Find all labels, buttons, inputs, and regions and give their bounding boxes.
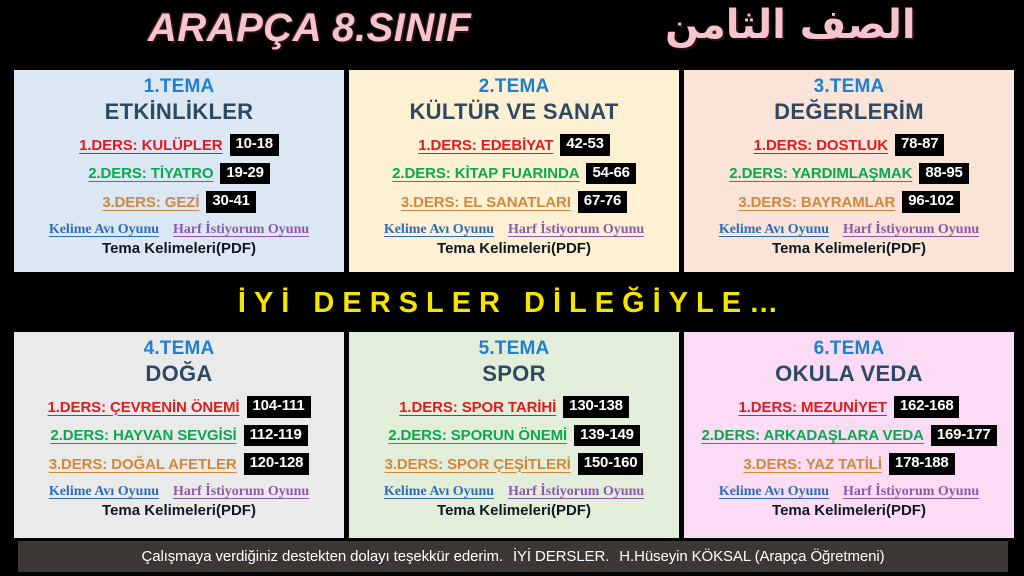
game-links: Kelime Avı Oyunu Harf İstiyorum Oyunu: [719, 484, 979, 500]
lesson-row[interactable]: 2.DERS: KİTAP FUARINDA 54-66: [392, 163, 636, 185]
lesson-row[interactable]: 1.DERS: KULÜPLER 10-18: [79, 134, 279, 156]
page-range-badge: 67-76: [578, 191, 627, 213]
lesson-row[interactable]: 3.DERS: EL SANATLARI 67-76: [401, 191, 627, 213]
page-range-badge: 42-53: [560, 134, 609, 156]
lesson-link[interactable]: 3.DERS: EL SANATLARI: [401, 194, 571, 211]
page-range-badge: 104-111: [247, 396, 311, 418]
page-range-badge: 169-177: [931, 425, 997, 447]
tema-kelimeleri-pdf-link[interactable]: Tema Kelimeleri(PDF): [437, 240, 591, 257]
theme-card-2[interactable]: 2.TEMA KÜLTÜR VE SANAT 1.DERS: EDEBİYAT …: [349, 70, 679, 272]
theme-card-1[interactable]: 1.TEMA ETKİNLİKLER 1.DERS: KULÜPLER 10-1…: [14, 70, 344, 272]
lesson-row[interactable]: 3.DERS: SPOR ÇEŞİTLERİ 150-160: [385, 453, 644, 475]
lesson-row[interactable]: 2.DERS: TİYATRO 19-29: [88, 163, 270, 185]
theme-number: 6.TEMA: [814, 338, 885, 360]
page-range-badge: 112-119: [244, 425, 308, 447]
kelime-avi-oyunu-link[interactable]: Kelime Avı Oyunu: [49, 484, 159, 500]
header: ARAPÇA 8.SINIF الصف الثامن: [0, 0, 1024, 62]
lesson-row[interactable]: 1.DERS: MEZUNİYET 162-168: [739, 396, 960, 418]
harf-istiyorum-oyunu-link[interactable]: Harf İstiyorum Oyunu: [508, 222, 644, 238]
theme-name: ETKİNLİKLER: [105, 98, 254, 126]
lesson-row[interactable]: 3.DERS: YAZ TATİLİ 178-188: [743, 453, 954, 475]
page-range-badge: 78-87: [895, 134, 944, 156]
game-links: Kelime Avı Oyunu Harf İstiyorum Oyunu: [719, 222, 979, 238]
tema-kelimeleri-pdf-link[interactable]: Tema Kelimeleri(PDF): [102, 502, 256, 519]
theme-name: KÜLTÜR VE SANAT: [409, 98, 618, 126]
lesson-row[interactable]: 2.DERS: ARKADAŞLARA VEDA 169-177: [702, 425, 997, 447]
theme-card-3[interactable]: 3.TEMA DEĞERLERİM 1.DERS: DOSTLUK 78-87 …: [684, 70, 1014, 272]
tema-kelimeleri-pdf-link[interactable]: Tema Kelimeleri(PDF): [772, 502, 926, 519]
game-links: Kelime Avı Oyunu Harf İstiyorum Oyunu: [384, 222, 644, 238]
game-links: Kelime Avı Oyunu Harf İstiyorum Oyunu: [384, 484, 644, 500]
footer-author: H.Hüseyin KÖKSAL (Arapça Öğretmeni): [619, 548, 884, 565]
lesson-link[interactable]: 3.DERS: YAZ TATİLİ: [743, 456, 882, 473]
tema-kelimeleri-pdf-link[interactable]: Tema Kelimeleri(PDF): [772, 240, 926, 257]
kelime-avi-oyunu-link[interactable]: Kelime Avı Oyunu: [719, 484, 829, 500]
lesson-row[interactable]: 3.DERS: GEZİ 30-41: [102, 191, 256, 213]
theme-number: 5.TEMA: [479, 338, 550, 360]
kelime-avi-oyunu-link[interactable]: Kelime Avı Oyunu: [384, 222, 494, 238]
theme-row-bottom: 4.TEMA DOĞA 1.DERS: ÇEVRENİN ÖNEMİ 104-1…: [14, 332, 1014, 538]
page-range-badge: 19-29: [220, 163, 269, 185]
page-range-badge: 120-128: [244, 453, 310, 475]
harf-istiyorum-oyunu-link[interactable]: Harf İstiyorum Oyunu: [843, 222, 979, 238]
footer-thanks: Çalışmaya verdiğiniz destekten dolayı te…: [142, 548, 503, 565]
page-range-badge: 130-138: [563, 396, 629, 418]
lesson-link[interactable]: 3.DERS: BAYRAMLAR: [738, 194, 895, 211]
page-range-badge: 162-168: [894, 396, 960, 418]
page-range-badge: 139-149: [574, 425, 640, 447]
lesson-row[interactable]: 3.DERS: BAYRAMLAR 96-102: [738, 191, 959, 213]
lesson-link[interactable]: 1.DERS: MEZUNİYET: [739, 399, 887, 416]
lesson-row[interactable]: 2.DERS: YARDIMLAŞMAK 88-95: [729, 163, 968, 185]
lesson-link[interactable]: 2.DERS: HAYVAN SEVGİSİ: [50, 427, 236, 444]
footer-wish: İYİ DERSLER.: [513, 548, 609, 565]
theme-row-top: 1.TEMA ETKİNLİKLER 1.DERS: KULÜPLER 10-1…: [14, 70, 1014, 272]
page-range-badge: 96-102: [902, 191, 960, 213]
lesson-link[interactable]: 2.DERS: SPORUN ÖNEMİ: [388, 427, 567, 444]
lesson-link[interactable]: 2.DERS: YARDIMLAŞMAK: [729, 165, 912, 182]
kelime-avi-oyunu-link[interactable]: Kelime Avı Oyunu: [49, 222, 159, 238]
lesson-row[interactable]: 1.DERS: EDEBİYAT 42-53: [418, 134, 609, 156]
lesson-list: 1.DERS: DOSTLUK 78-87 2.DERS: YARDIMLAŞM…: [688, 127, 1010, 213]
theme-name: DEĞERLERİM: [774, 98, 924, 126]
lesson-link[interactable]: 1.DERS: EDEBİYAT: [418, 137, 553, 154]
lesson-link[interactable]: 2.DERS: ARKADAŞLARA VEDA: [702, 427, 924, 444]
harf-istiyorum-oyunu-link[interactable]: Harf İstiyorum Oyunu: [508, 484, 644, 500]
tema-kelimeleri-pdf-link[interactable]: Tema Kelimeleri(PDF): [437, 502, 591, 519]
lesson-link[interactable]: 3.DERS: GEZİ: [102, 194, 199, 211]
lesson-link[interactable]: 1.DERS: SPOR TARİHİ: [399, 399, 556, 416]
theme-number: 3.TEMA: [814, 76, 885, 98]
theme-name: DOĞA: [145, 360, 212, 388]
wish-banner-text: İYİ DERSLER DİLEĞİYLE…: [238, 287, 786, 320]
lesson-link[interactable]: 1.DERS: DOSTLUK: [754, 137, 888, 154]
page-root: ARAPÇA 8.SINIF الصف الثامن 1.TEMA ETKİNL…: [0, 0, 1024, 576]
lesson-link[interactable]: 3.DERS: SPOR ÇEŞİTLERİ: [385, 456, 571, 473]
page-title-arabic: الصف الثامن: [665, 2, 916, 48]
lesson-link[interactable]: 3.DERS: DOĞAL AFETLER: [49, 456, 237, 473]
lesson-list: 1.DERS: SPOR TARİHİ 130-138 2.DERS: SPOR…: [353, 389, 675, 475]
footer-bar: Çalışmaya verdiğiniz destekten dolayı te…: [18, 541, 1008, 572]
lesson-link[interactable]: 1.DERS: KULÜPLER: [79, 137, 222, 154]
theme-card-5[interactable]: 5.TEMA SPOR 1.DERS: SPOR TARİHİ 130-138 …: [349, 332, 679, 538]
lesson-row[interactable]: 1.DERS: ÇEVRENİN ÖNEMİ 104-111: [48, 396, 311, 418]
theme-number: 4.TEMA: [144, 338, 215, 360]
lesson-link[interactable]: 1.DERS: ÇEVRENİN ÖNEMİ: [48, 399, 240, 416]
page-range-badge: 10-18: [230, 134, 279, 156]
lesson-row[interactable]: 3.DERS: DOĞAL AFETLER 120-128: [49, 453, 310, 475]
lesson-row[interactable]: 2.DERS: HAYVAN SEVGİSİ 112-119: [50, 425, 307, 447]
kelime-avi-oyunu-link[interactable]: Kelime Avı Oyunu: [384, 484, 494, 500]
lesson-row[interactable]: 1.DERS: SPOR TARİHİ 130-138: [399, 396, 629, 418]
lesson-row[interactable]: 2.DERS: SPORUN ÖNEMİ 139-149: [388, 425, 640, 447]
tema-kelimeleri-pdf-link[interactable]: Tema Kelimeleri(PDF): [102, 240, 256, 257]
kelime-avi-oyunu-link[interactable]: Kelime Avı Oyunu: [719, 222, 829, 238]
theme-number: 1.TEMA: [144, 76, 215, 98]
page-range-badge: 88-95: [919, 163, 968, 185]
theme-card-6[interactable]: 6.TEMA OKULA VEDA 1.DERS: MEZUNİYET 162-…: [684, 332, 1014, 538]
theme-name: OKULA VEDA: [775, 360, 923, 388]
lesson-link[interactable]: 2.DERS: TİYATRO: [88, 165, 213, 182]
lesson-list: 1.DERS: MEZUNİYET 162-168 2.DERS: ARKADA…: [688, 389, 1010, 475]
wish-banner: İYİ DERSLER DİLEĞİYLE…: [0, 276, 1024, 330]
game-links: Kelime Avı Oyunu Harf İstiyorum Oyunu: [49, 484, 309, 500]
page-range-badge: 54-66: [586, 163, 635, 185]
harf-istiyorum-oyunu-link[interactable]: Harf İstiyorum Oyunu: [173, 222, 309, 238]
harf-istiyorum-oyunu-link[interactable]: Harf İstiyorum Oyunu: [173, 484, 309, 500]
theme-card-4[interactable]: 4.TEMA DOĞA 1.DERS: ÇEVRENİN ÖNEMİ 104-1…: [14, 332, 344, 538]
page-title-turkish: ARAPÇA 8.SINIF: [148, 6, 471, 51]
theme-name: SPOR: [482, 360, 546, 388]
game-links: Kelime Avı Oyunu Harf İstiyorum Oyunu: [49, 222, 309, 238]
lesson-row[interactable]: 1.DERS: DOSTLUK 78-87: [754, 134, 945, 156]
theme-number: 2.TEMA: [479, 76, 550, 98]
page-range-badge: 30-41: [206, 191, 255, 213]
lesson-list: 1.DERS: KULÜPLER 10-18 2.DERS: TİYATRO 1…: [18, 127, 340, 213]
page-range-badge: 150-160: [578, 453, 644, 475]
lesson-link[interactable]: 2.DERS: KİTAP FUARINDA: [392, 165, 579, 182]
lesson-list: 1.DERS: ÇEVRENİN ÖNEMİ 104-111 2.DERS: H…: [18, 389, 340, 475]
page-range-badge: 178-188: [889, 453, 955, 475]
harf-istiyorum-oyunu-link[interactable]: Harf İstiyorum Oyunu: [843, 484, 979, 500]
lesson-list: 1.DERS: EDEBİYAT 42-53 2.DERS: KİTAP FUA…: [353, 127, 675, 213]
